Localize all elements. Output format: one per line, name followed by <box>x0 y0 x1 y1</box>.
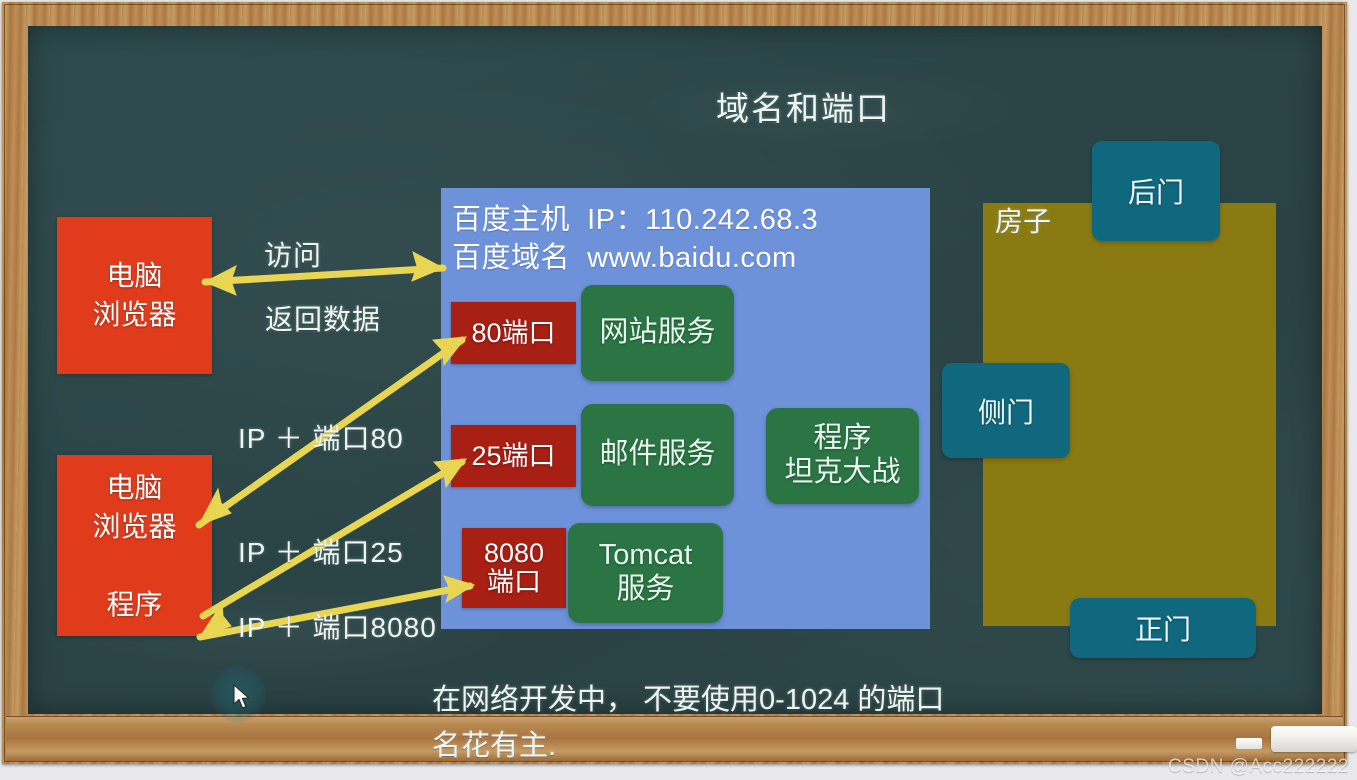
client-box-browser-bottom: 电脑 浏览器 程序 <box>57 455 212 636</box>
arrow-label-visit: 访问 <box>264 234 322 274</box>
port-box-8080-number: 8080 <box>484 539 544 568</box>
mouse-cursor-icon <box>233 684 251 710</box>
service-box-program: 程序 坦克大战 <box>766 408 919 504</box>
door-back: 后门 <box>1092 141 1220 241</box>
screenshot-root: 域名和端口 百度主机 IP：110.242.68.3 百度域名 www.baid… <box>0 0 1357 780</box>
service-box-website: 网站服务 <box>581 285 734 381</box>
note-line-1: 在网络开发中， 不要使用0-1024 的端口 <box>432 676 944 718</box>
arrow-label-port-8080: IP ＋ 端口8080 <box>238 606 437 646</box>
chalkboard-eraser <box>1271 726 1357 752</box>
port-box-80: 80端口 <box>451 302 576 364</box>
client-bottom-line2: 浏览器 <box>92 508 176 547</box>
service-box-tomcat-line2: 服务 <box>616 573 674 607</box>
service-box-tomcat-line1: Tomcat <box>599 539 692 573</box>
door-side-label: 侧门 <box>978 391 1034 431</box>
client-top-line1: 电脑 <box>106 257 162 296</box>
service-box-mail-label: 邮件服务 <box>599 438 715 472</box>
port-box-8080-suffix: 端口 <box>487 568 541 597</box>
arrow-label-port-25: IP ＋ 端口25 <box>238 531 404 571</box>
chalk-stick <box>1236 738 1262 749</box>
door-back-label: 后门 <box>1128 171 1184 211</box>
port-box-80-label: 80端口 <box>471 319 555 348</box>
door-front: 正门 <box>1070 598 1256 658</box>
server-host-ip-line: 百度主机 IP：110.242.68.3 <box>452 196 818 238</box>
arrow-label-return: 返回数据 <box>265 298 381 338</box>
service-box-mail: 邮件服务 <box>581 404 734 506</box>
client-bottom-line3: 程序 <box>106 586 162 625</box>
house-label: 房子 <box>995 200 1051 240</box>
page-title: 域名和端口 <box>716 82 891 130</box>
arrow-label-port-80: IP ＋ 端口80 <box>238 417 404 457</box>
port-box-25: 25端口 <box>451 425 576 487</box>
client-bottom-line1: 电脑 <box>106 469 162 508</box>
service-box-program-line1: 程序 <box>813 422 871 456</box>
server-domain-line: 百度域名 www.baidu.com <box>452 234 797 276</box>
service-box-tomcat: Tomcat 服务 <box>568 523 723 623</box>
note-line-2: 名花有主. <box>432 722 556 764</box>
service-box-website-label: 网站服务 <box>599 316 715 350</box>
door-side: 侧门 <box>942 363 1070 458</box>
chalk-tray <box>6 716 1343 761</box>
client-top-line2: 浏览器 <box>92 296 176 335</box>
port-box-8080: 8080 端口 <box>462 528 566 608</box>
door-front-label: 正门 <box>1135 608 1191 648</box>
service-box-program-line2: 坦克大战 <box>784 456 900 490</box>
client-box-browser-top: 电脑 浏览器 <box>57 217 212 374</box>
watermark: CSDN @Acc222222 <box>1168 756 1349 778</box>
port-box-25-label: 25端口 <box>471 442 555 471</box>
